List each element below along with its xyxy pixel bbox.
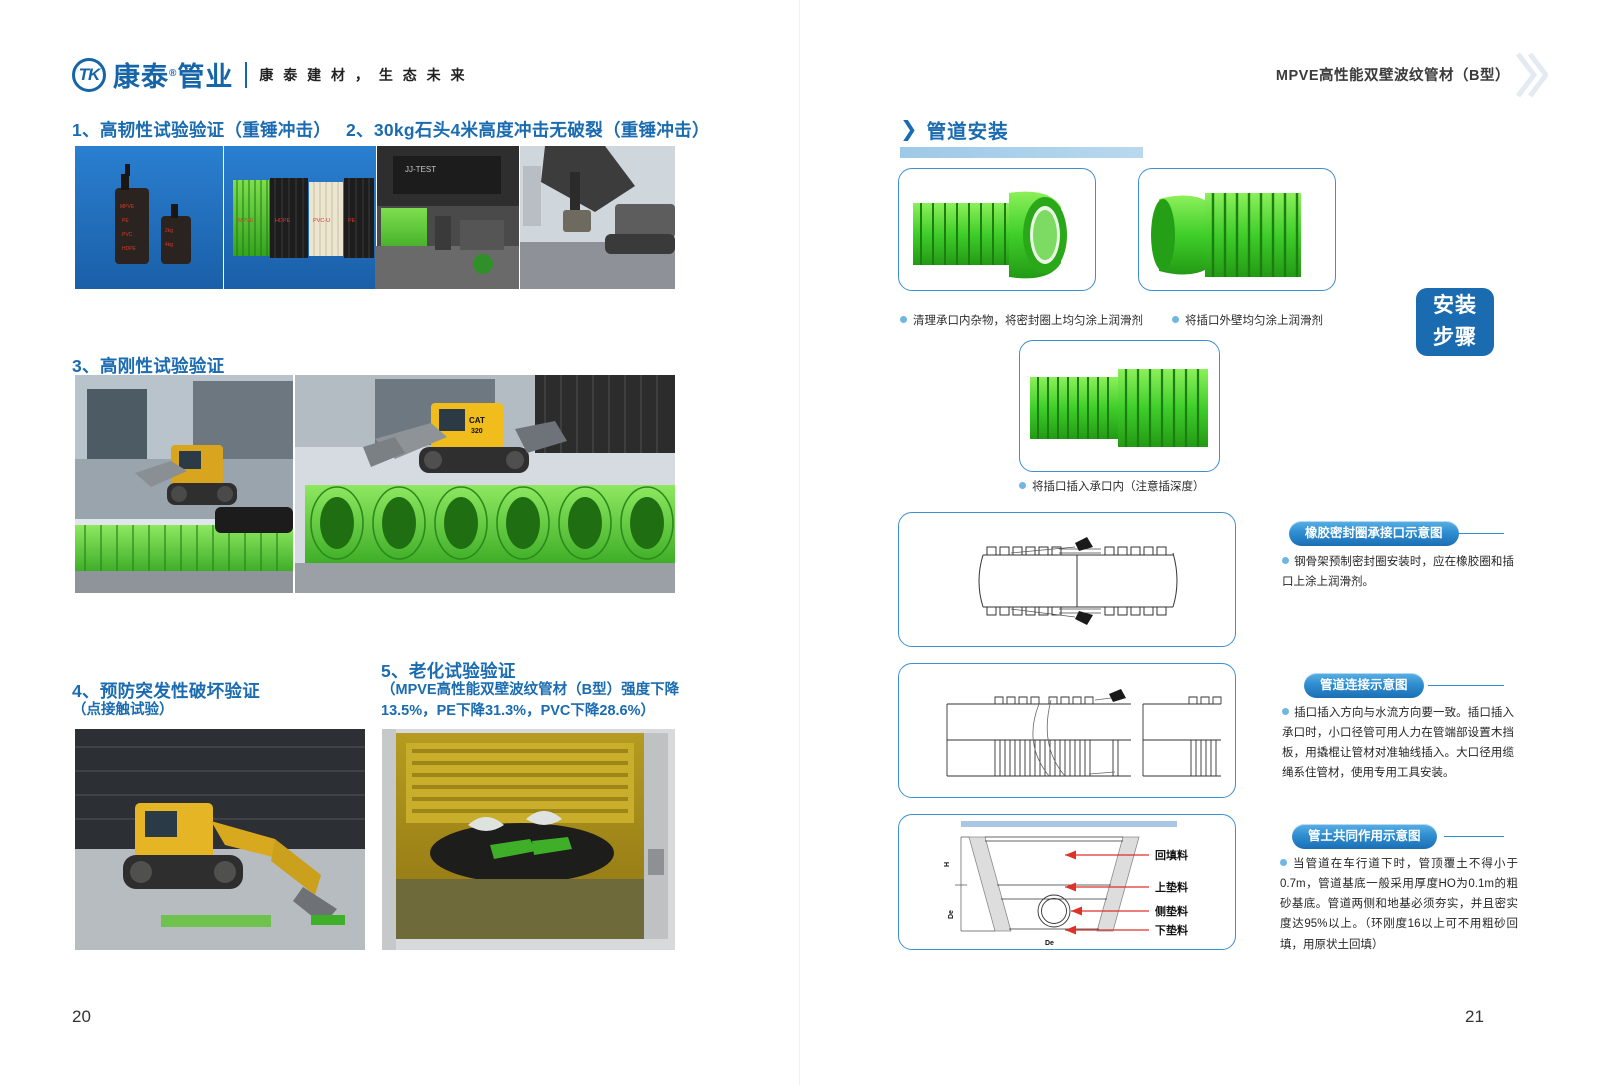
svg-text:4kg: 4kg: [165, 242, 173, 248]
svg-text:De: De: [948, 910, 955, 919]
logo-name-part1: 康泰: [113, 62, 169, 92]
header-product-name: MPVE高性能双壁波纹管材（B型）: [1276, 64, 1510, 85]
diagram-note-rubber-seal: 钢骨架预制密封圈安装时，应在橡胶圈和插口上涂上润滑剂。: [1282, 552, 1514, 592]
right-section-heading: ❯ 管道安装: [900, 115, 1009, 144]
svg-text:De: De: [1045, 940, 1054, 947]
step-caption-insert-spigot: 将插口插入承口内（注意插深度）: [1019, 478, 1205, 494]
section-subtitle-5-line2: 13.5%，PE下降31.3%，PVC下降28.6%）: [381, 701, 655, 722]
step-card-insert-spigot: [1019, 340, 1220, 472]
svg-text:H: H: [944, 862, 951, 867]
pill-connector-line-2: [1428, 685, 1504, 686]
section-title-1: 1、高韧性试验验证（重锤冲击）: [72, 117, 331, 142]
section-subtitle-4: （点接触试验）: [72, 700, 174, 721]
note-text: 插口插入方向与水流方向要一致。插口插入承口时，小口径管可用人力在管端部设置木挡板…: [1282, 707, 1514, 779]
svg-text:PE: PE: [122, 218, 129, 224]
diagram-pill-rubber-seal: 橡胶密封圈承接口示意图: [1289, 521, 1459, 546]
heading-text: 管道安装: [927, 115, 1009, 144]
trench-label-3: 下垫料: [1155, 923, 1188, 937]
diagram-pill-pipe-connection: 管道连接示意图: [1304, 673, 1424, 698]
svg-text:PE: PE: [348, 218, 356, 224]
logo-company-name: 康泰®管业: [113, 55, 233, 94]
heading-chevron-icon: ❯: [900, 119, 918, 140]
svg-text:PVC-U: PVC-U: [313, 218, 330, 224]
bullet-dot-icon: [1019, 482, 1026, 489]
svg-text:MPVE: MPVE: [238, 218, 254, 224]
svg-text:JJ-TEST: JJ-TEST: [405, 165, 436, 174]
page-fold-divider: [799, 0, 800, 1085]
section-title-2: 2、30kg石头4米高度冲击无破裂（重锤冲击）: [346, 117, 710, 142]
photo-point-contact-test: [75, 729, 365, 950]
bullet-dot-icon: [1280, 859, 1287, 866]
rubber-seal-socket-diagram: [898, 512, 1236, 647]
note-text: 当管道在车行道下时，管顶覆土不得小于0.7m，管道基底一般采用厚度HO为0.1m…: [1280, 858, 1518, 951]
pill-connector-line-1: [1450, 533, 1504, 534]
svg-text:HDPE: HDPE: [275, 218, 291, 224]
bullet-dot-icon: [1282, 708, 1289, 715]
page-number-left: 20: [72, 1007, 91, 1027]
diagram-pill-pipe-soil: 管土共同作用示意图: [1292, 824, 1437, 849]
photo-aging-oven-chamber: [382, 729, 675, 950]
trench-label-2: 侧垫料: [1155, 904, 1188, 918]
logo-slogan: 康 泰 建 材 ， 生 态 未 来: [259, 65, 467, 85]
badge-line2: 步骤: [1416, 322, 1494, 354]
install-steps-badge: 安装 步骤: [1416, 288, 1494, 356]
note-text: 钢骨架预制密封圈安装时，应在橡胶圈和插口上涂上润滑剂。: [1282, 556, 1514, 588]
heading-underline-bar: [900, 147, 1143, 158]
caption-text: 清理承口内杂物，将密封圈上均匀涂上润滑剂: [913, 315, 1143, 327]
caption-text: 将插口外壁均匀涂上润滑剂: [1185, 315, 1323, 327]
photo-strip-stiffness-tests: CAT 320: [75, 375, 675, 593]
bullet-dot-icon: [1282, 557, 1289, 564]
step-caption-lubricate-spigot: 将插口外壁均匀涂上润滑剂: [1172, 312, 1323, 328]
pill-connector-line-3: [1444, 836, 1504, 837]
trench-label-0: 回填料: [1155, 848, 1188, 862]
bullet-dot-icon: [900, 316, 907, 323]
pipe-connection-diagram: [898, 663, 1236, 798]
badge-line1: 安装: [1416, 290, 1494, 322]
bullet-dot-icon: [1172, 316, 1179, 323]
logo-name-part2: 管业: [177, 62, 233, 92]
step-card-clean-socket: [898, 168, 1096, 291]
svg-text:CAT: CAT: [469, 416, 485, 425]
photo-strip-impact-tests: MPVEPE PVCHDPE 2kg4kg: [75, 146, 675, 289]
logo-mark-icon: TK: [72, 58, 106, 92]
svg-text:2kg: 2kg: [165, 228, 173, 234]
company-logo: TK 康泰®管业 康 泰 建 材 ， 生 态 未 来: [72, 55, 468, 94]
diagram-note-pipe-soil: 当管道在车行道下时，管顶覆土不得小于0.7m，管道基底一般采用厚度HO为0.1m…: [1280, 854, 1518, 955]
svg-text:320: 320: [471, 428, 483, 435]
trench-label-1: 上垫料: [1155, 880, 1188, 894]
pipe-soil-interaction-diagram: H De De 回填料 上垫料 侧垫料 下垫料: [898, 814, 1236, 950]
chevron-decor-icon: [1514, 52, 1548, 98]
svg-text:MPVE: MPVE: [120, 204, 135, 210]
svg-text:HDPE: HDPE: [122, 246, 137, 252]
caption-text: 将插口插入承口内（注意插深度）: [1032, 481, 1205, 493]
step-caption-clean-socket: 清理承口内杂物，将密封圈上均匀涂上润滑剂: [900, 312, 1143, 328]
page-number-right: 21: [1465, 1007, 1484, 1027]
diagram-note-pipe-connection: 插口插入方向与水流方向要一致。插口插入承口时，小口径管可用人力在管端部设置木挡板…: [1282, 703, 1514, 784]
catalog-spread: TK 康泰®管业 康 泰 建 材 ， 生 态 未 来 MPVE高性能双壁波纹管材…: [0, 0, 1600, 1085]
section-subtitle-5-line1: （MPVE高性能双壁波纹管材（B型）强度下降: [381, 680, 679, 701]
svg-text:PVC: PVC: [122, 232, 133, 238]
step-card-lubricate-spigot: [1138, 168, 1336, 291]
logo-divider: [245, 62, 247, 88]
